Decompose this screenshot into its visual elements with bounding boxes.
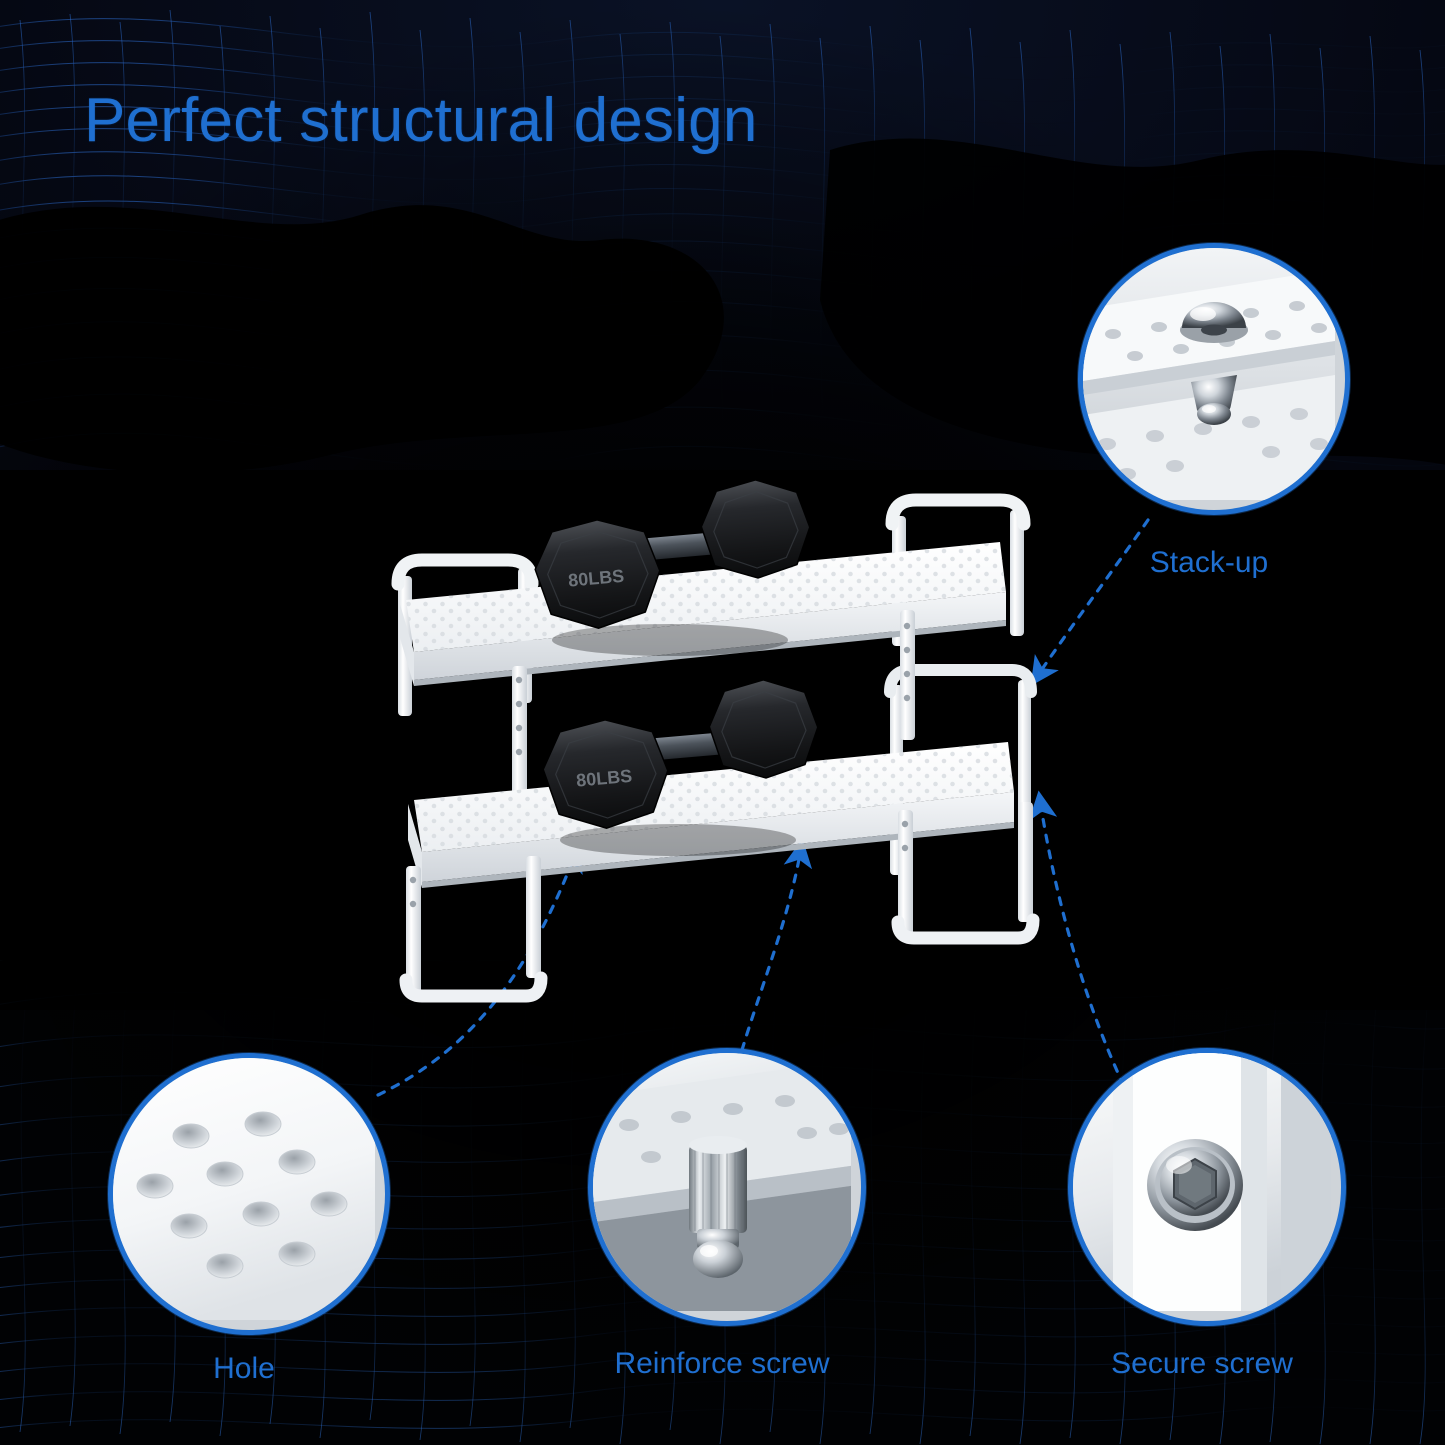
hex-screw-icon: [1147, 1139, 1243, 1231]
ball-stud-socket-icon: [1191, 375, 1237, 425]
callout-label-stack-up: Stack-up: [1078, 546, 1340, 580]
callout-label-hole: Hole: [108, 1352, 380, 1386]
page-title: Perfect structural design: [84, 88, 758, 153]
callout-label-reinforce-screw: Reinforce screw: [548, 1347, 896, 1381]
callout-label-secure-screw: Secure screw: [1028, 1347, 1376, 1381]
callout-hole[interactable]: [108, 1053, 390, 1335]
product-image: 80LBS: [370, 480, 1090, 1040]
knurled-screw-icon: [689, 1136, 747, 1278]
callout-reinforce-screw[interactable]: [588, 1048, 866, 1326]
shelf-lower-deck: [408, 742, 1014, 888]
callout-secure-screw[interactable]: [1068, 1048, 1346, 1326]
infographic-canvas: Perfect structural design: [0, 0, 1445, 1445]
callout-stack-up[interactable]: [1078, 243, 1350, 515]
